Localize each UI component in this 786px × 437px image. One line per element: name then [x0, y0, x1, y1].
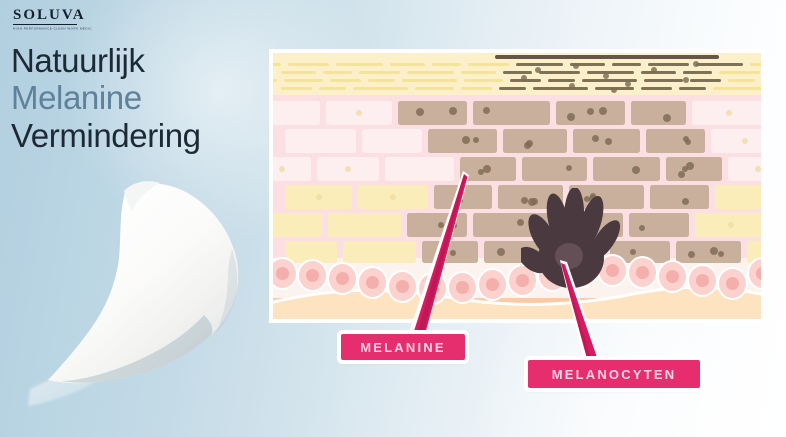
- brand-name: SOLUVA: [13, 8, 133, 23]
- basal-cell: [357, 266, 388, 299]
- basal-cell-nucleus: [336, 272, 349, 285]
- label-melanocyten[interactable]: MELANOCYTEN: [528, 360, 700, 388]
- basal-cell-nucleus: [366, 276, 379, 289]
- headline-line-3: Vermindering: [11, 117, 261, 154]
- basal-cell: [717, 267, 748, 300]
- headline-line-2: Melanine: [11, 79, 261, 116]
- basal-cell: [687, 264, 718, 297]
- basal-cell-nucleus: [726, 277, 739, 290]
- basal-cell-nucleus: [636, 266, 649, 279]
- basal-cell-nucleus: [276, 267, 289, 280]
- basal-cell-nucleus: [666, 270, 679, 283]
- promo-banner: SOLUVA HIGH PERFORMANCE CLEAN WORK MEDIC…: [0, 0, 786, 437]
- headline-line-1: Natuurlijk: [11, 42, 261, 79]
- basal-cell: [297, 259, 328, 292]
- basal-cell: [657, 260, 688, 293]
- brand-tagline: HIGH PERFORMANCE CLEAN WORK MEDIC: [13, 27, 133, 31]
- pointer-melanine: [400, 168, 490, 348]
- basal-cell: [747, 257, 761, 290]
- basal-cell-row: [273, 53, 761, 319]
- logo-rule: [13, 24, 77, 25]
- basal-cell: [627, 256, 658, 289]
- basal-cell-nucleus: [696, 274, 709, 287]
- label-melanine[interactable]: MELANINE: [341, 334, 465, 360]
- basal-cell-nucleus: [306, 269, 319, 282]
- brand-logo: SOLUVA HIGH PERFORMANCE CLEAN WORK MEDIC: [13, 8, 133, 31]
- pointer-melanocyten: [548, 258, 628, 370]
- page-title: Natuurlijk Melanine Vermindering: [11, 42, 261, 154]
- cream-swatch: [18, 175, 268, 410]
- basal-cell: [327, 262, 358, 295]
- basal-cell-nucleus: [756, 267, 761, 280]
- basal-cell: [273, 257, 298, 290]
- skin-cross-section-diagram: [273, 53, 761, 319]
